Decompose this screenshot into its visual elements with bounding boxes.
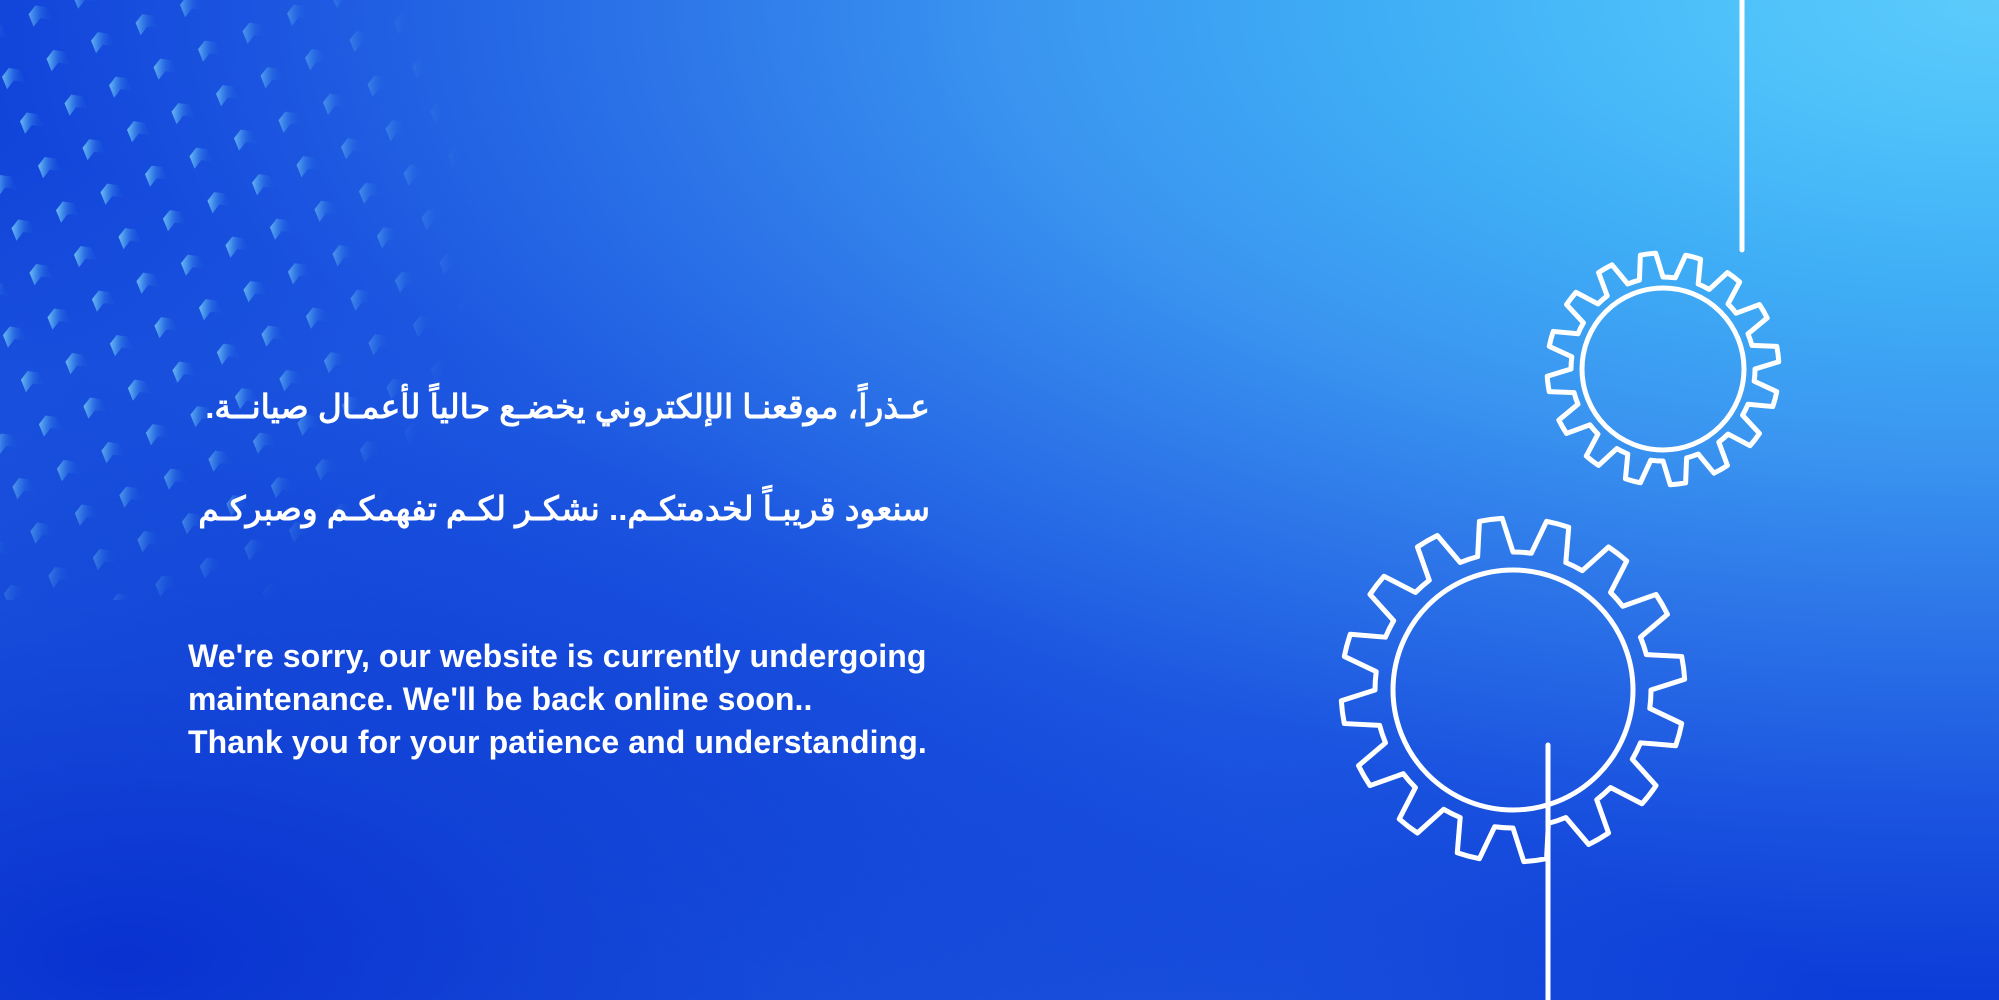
maintenance-page: عـذراً، موقعنـا الإلكتروني يخضـع حالياً … — [0, 0, 1999, 1000]
arabic-line-1: عـذراً، موقعنـا الإلكتروني يخضـع حالياً … — [188, 381, 930, 432]
arabic-line-2: سنعود قريبـاً لخدمتكـم.. نشكـر لكـم تفهم… — [188, 483, 930, 534]
english-line-3: Thank you for your patience and understa… — [188, 721, 1188, 764]
english-line-1: We're sorry, our website is currently un… — [188, 635, 1188, 678]
message-block: عـذراً، موقعنـا الإلكتروني يخضـع حالياً … — [188, 330, 1188, 764]
english-message: We're sorry, our website is currently un… — [188, 635, 1188, 764]
arabic-message: عـذراً، موقعنـا الإلكتروني يخضـع حالياً … — [188, 330, 930, 585]
english-line-2: maintenance. We'll be back online soon.. — [188, 678, 1188, 721]
